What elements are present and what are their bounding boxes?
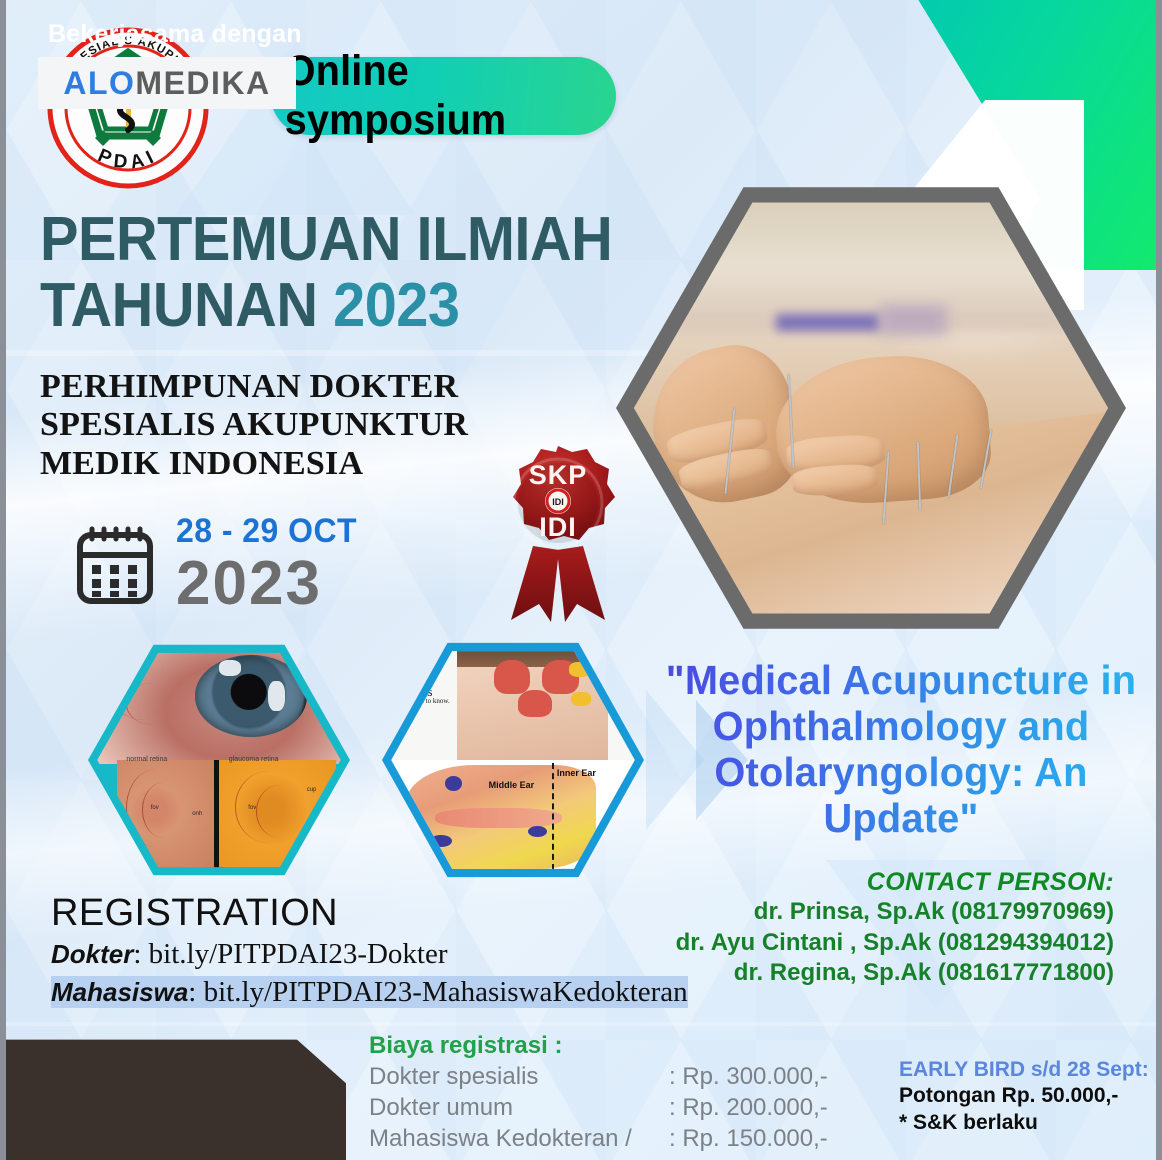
retina-label-glaucoma: glaucoma retina <box>229 756 279 763</box>
registration-link-dokter[interactable]: bit.ly/PITPDAI23-Dokter <box>149 938 448 970</box>
registration-row-dokter[interactable]: Dokter: bit.ly/PITPDAI23-Dokter <box>51 935 711 973</box>
ear-anatomy-illustration: Middle Ear Inner Ear <box>391 760 635 873</box>
alomedika-logo-part2: MEDIKA <box>135 65 270 102</box>
middle-ear-label: Middle Ear <box>489 780 535 790</box>
fee-value-3: : Rp. 150.000,- <box>669 1123 828 1154</box>
registration-sep: : <box>188 976 203 1008</box>
theme-line-2: Ophthalmology and <box>659 704 1144 750</box>
fee-table-heading: Biaya registrasi : <box>369 1032 849 1060</box>
headline-year: 2023 <box>333 271 459 340</box>
contact-person-block: CONTACT PERSON: dr. Prinsa, Sp.Ak (08179… <box>644 868 1114 989</box>
fee-row: Dokter umum : Rp. 200.000,- <box>369 1092 849 1123</box>
sinus-inflammation <box>569 662 591 677</box>
registration-block: REGISTRATION Dokter: bit.ly/PITPDAI23-Do… <box>51 892 711 1012</box>
registration-sep: : <box>133 938 148 970</box>
skp-idi-seal: SKP IDI IDI <box>493 438 623 628</box>
practitioner-right-hand <box>771 349 994 509</box>
calendar-icon <box>76 525 154 607</box>
event-date: 28 - 29 OCT 2023 <box>176 512 369 615</box>
hair <box>457 647 608 667</box>
sinusitis-caption: hronic nusitis you need to know. <box>398 672 449 705</box>
sinusitis-caption-line-2: nusitis <box>398 685 449 698</box>
hexagon-border-main <box>616 178 1126 638</box>
sinusitis-illustration: hronic nusitis you need to know. <box>391 647 635 760</box>
sinusitis-caption-line-1: hronic <box>398 672 449 685</box>
early-bird-discount: Potongan Rp. 50.000,- <box>899 1083 1159 1109</box>
early-bird-heading: EARLY BIRD s/d 28 Sept: <box>899 1057 1159 1083</box>
fee-label-3: Mahasiswa Kedokteran / Koas <box>369 1123 669 1160</box>
partner-label: Bekerjasama dengan <box>48 20 302 49</box>
contact-person-heading: CONTACT PERSON: <box>644 868 1114 897</box>
fee-row: Mahasiswa Kedokteran / Koas : Rp. 150.00… <box>369 1123 849 1160</box>
hexagon-eye-photo: normal retina glaucoma retina fov fov on… <box>88 640 350 880</box>
photo-blur-object-2 <box>880 305 946 335</box>
eye-vessel <box>126 683 181 725</box>
hexagon-image-ent: hronic nusitis you need to know. Middle … <box>391 647 635 874</box>
fee-row: Dokter spesialis : Rp. 300.000,- <box>369 1061 849 1092</box>
early-bird-block: EARLY BIRD s/d 28 Sept: Potongan Rp. 50.… <box>899 1057 1159 1136</box>
symposium-theme-title: "Medical Acupuncture in Ophthalmology an… <box>659 658 1144 842</box>
page-title: PERTEMUAN ILMIAH TAHUNAN 2023 <box>40 210 680 336</box>
inner-ear-divider <box>552 763 554 870</box>
sinus-cavity <box>518 690 552 717</box>
svg-text:SKP: SKP <box>529 460 588 490</box>
registration-label-mahasiswa: Mahasiswa <box>51 977 188 1007</box>
eye-closeup <box>97 648 341 764</box>
alomedika-logo-part1: ALO <box>63 65 135 102</box>
headline-line-2-prefix: TAHUNAN <box>40 271 333 340</box>
hexagon-border-ent: hronic nusitis you need to know. Middle … <box>382 638 644 882</box>
hexagon-ent-illustration: hronic nusitis you need to know. Middle … <box>382 638 644 882</box>
inner-ear-label: Inner Ear <box>557 768 596 778</box>
glaucoma-retina-image <box>219 760 336 872</box>
iris <box>195 655 307 736</box>
theme-line-1: "Medical Acupuncture in <box>659 658 1144 704</box>
registration-link-mahasiswa[interactable]: bit.ly/PITPDAI23-MahasiswaKedokteran <box>204 976 688 1008</box>
theme-line-3: Otolaryngology: An Update" <box>659 750 1144 842</box>
fee-value-2: : Rp. 200.000,- <box>669 1092 828 1123</box>
headline-line-2: TAHUNAN 2023 <box>40 276 635 336</box>
ear-canal <box>435 808 562 828</box>
svg-text:IDI: IDI <box>552 497 564 507</box>
svg-text:IDI: IDI <box>539 512 577 542</box>
fee-label-1: Dokter spesialis <box>369 1061 669 1092</box>
early-bird-terms: * S&K berlaku <box>899 1110 1159 1136</box>
retina-label-cup: cup <box>307 787 317 793</box>
retina-label-normal: normal retina <box>126 756 167 763</box>
hexagon-image-eye: normal retina glaucoma retina fov fov on… <box>97 648 341 871</box>
sinusitis-caption-line-3: you need to know. <box>398 698 449 705</box>
sinus-inflammation <box>571 692 590 706</box>
fee-value-1: : Rp. 300.000,- <box>669 1061 828 1092</box>
sinus-cavity <box>494 660 531 694</box>
light-band-bottom <box>6 1022 1156 1026</box>
registration-fee-table: Biaya registrasi : Dokter spesialis : Rp… <box>369 1032 849 1160</box>
registration-row-mahasiswa[interactable]: Mahasiswa: bit.ly/PITPDAI23-MahasiswaKed… <box>51 973 711 1011</box>
retina-vessel <box>256 785 304 839</box>
subtitle-line-1: PERHIMPUNAN DOKTER <box>40 368 600 406</box>
registration-label-dokter: Dokter <box>51 939 133 969</box>
hexagon-image-main <box>634 194 1108 622</box>
online-symposium-badge: Online symposium <box>271 57 616 135</box>
date-year: 2023 <box>176 553 369 615</box>
hexagon-border-eye: normal retina glaucoma retina fov fov on… <box>88 640 350 880</box>
photo-blur-object-1 <box>776 314 880 331</box>
alomedika-logo: ALOMEDIKA <box>38 57 296 109</box>
retina-label-onh: onh <box>192 811 202 817</box>
headline-line-1: PERTEMUAN ILMIAH <box>40 210 635 270</box>
contact-person-1[interactable]: dr. Prinsa, Sp.Ak (08179970969) <box>644 897 1114 928</box>
registration-highlight: Mahasiswa: bit.ly/PITPDAI23-MahasiswaKed… <box>51 976 688 1008</box>
fee-label-2: Dokter umum <box>369 1092 669 1123</box>
date-range: 28 - 29 OCT <box>176 512 357 551</box>
ear-structure <box>445 776 462 791</box>
partner-panel <box>0 1032 346 1160</box>
hexagon-acupuncture-photo <box>616 178 1126 638</box>
poster-canvas: PERHIMPUNAN DOKTER SPESIALIS AKUPUNKTUR … <box>0 0 1162 1160</box>
photo-blur-background <box>634 194 1108 331</box>
retina-label-fovea-right: fov <box>248 805 256 811</box>
contact-person-3[interactable]: dr. Regina, Sp.Ak (081617771800) <box>644 958 1114 989</box>
acupuncture-photo <box>634 194 1108 622</box>
eye-glint <box>268 681 285 711</box>
online-symposium-label: Online symposium <box>285 47 602 145</box>
retina-label-fovea-left: fov <box>151 805 159 811</box>
eye-glint <box>219 660 241 676</box>
retina-vessel <box>142 782 186 838</box>
contact-person-2[interactable]: dr. Ayu Cintani , Sp.Ak (081294394012) <box>644 928 1114 959</box>
registration-heading: REGISTRATION <box>51 892 711 935</box>
